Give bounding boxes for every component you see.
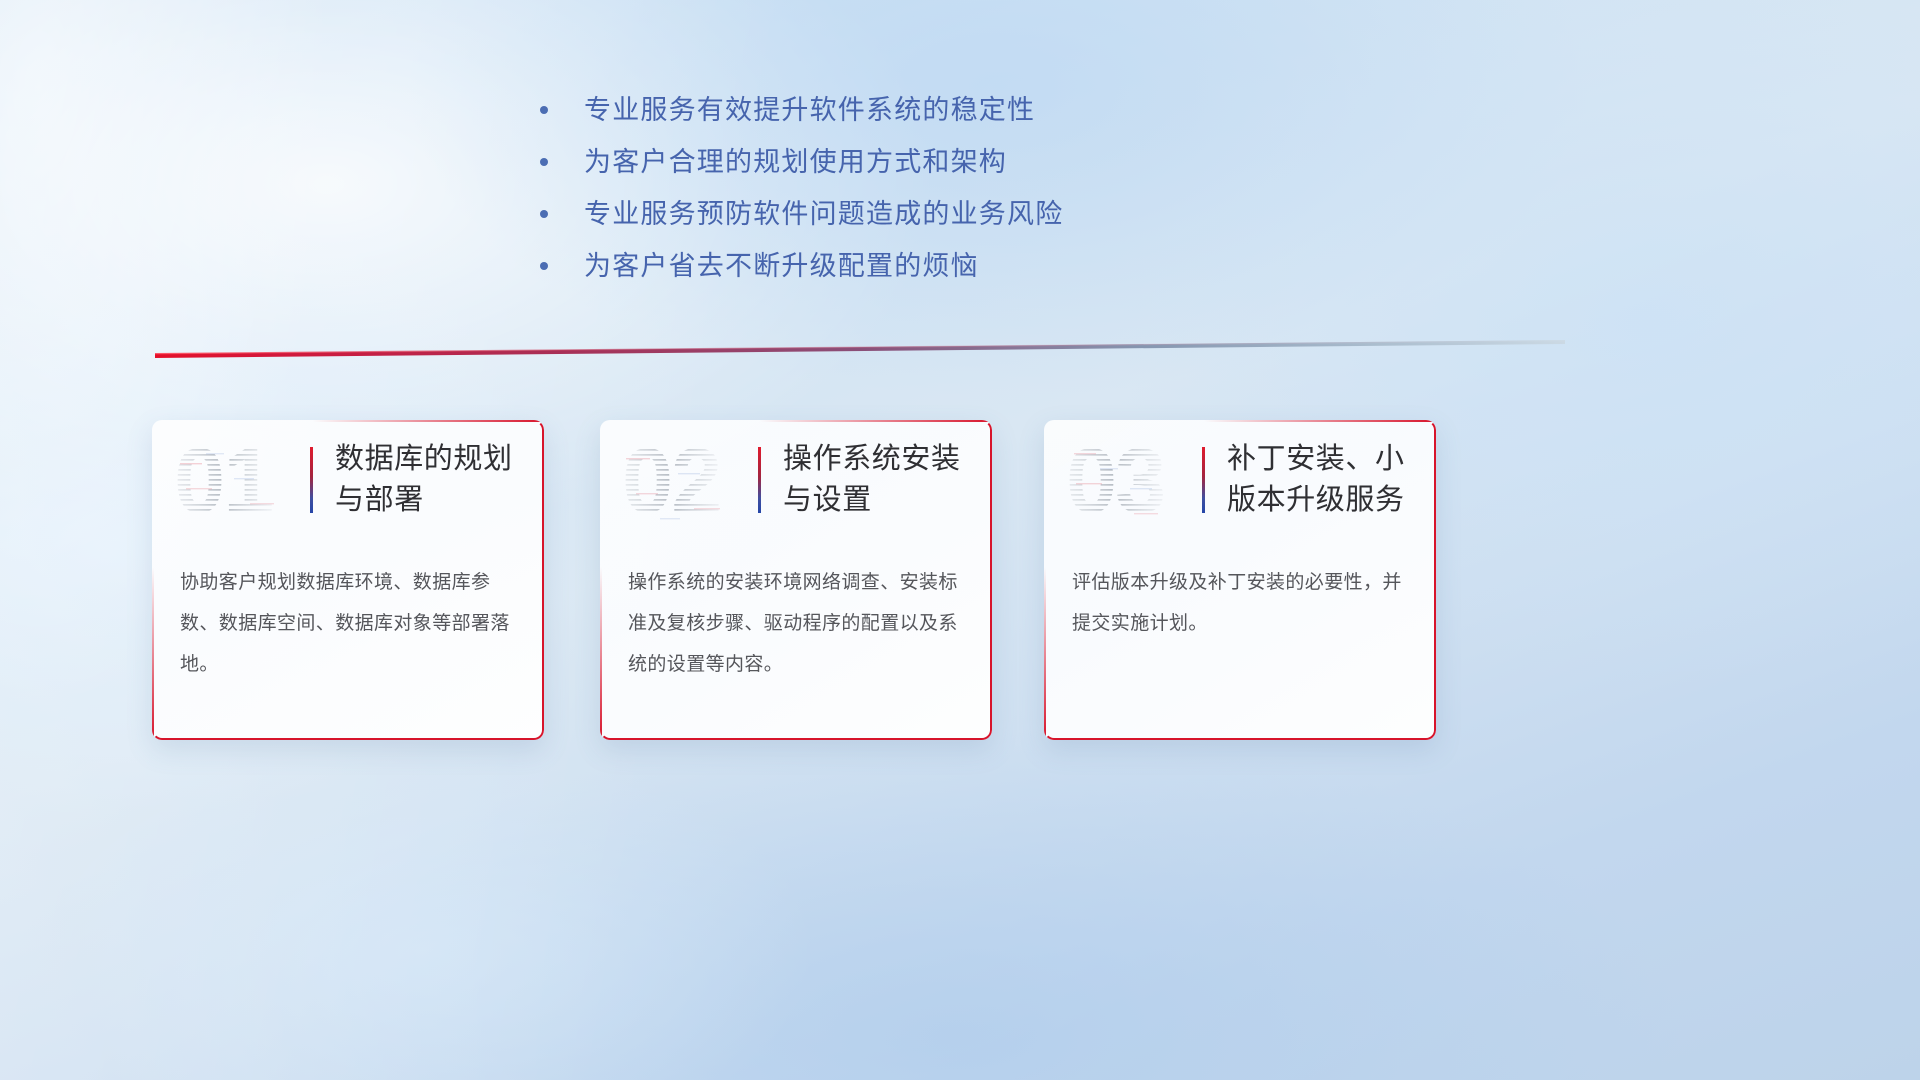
card-description: 协助客户规划数据库环境、数据库参数、数据库空间、数据库对象等部署落地。 [152,540,544,685]
svg-text:02: 02 [622,432,720,528]
section-divider [155,340,1565,362]
bullet-text: 专业服务预防软件问题造成的业务风险 [584,192,1063,236]
card-number-watermark: 01 [172,432,302,528]
bullet-dot-icon [540,262,548,270]
bullet-dot-icon [540,106,548,114]
service-card-03[interactable]: 03 补丁安装、小版本升级服务 评估版本升级及补丁安装的必要性，并提交实施计划。 [1044,420,1436,740]
card-number-watermark: 02 [620,432,750,528]
card-divider-bar [1202,447,1205,513]
bullet-dot-icon [540,210,548,218]
divider-line-shape [155,340,1565,362]
bullet-text: 为客户省去不断升级配置的烦恼 [584,244,979,288]
card-divider-bar [758,447,761,513]
list-item: 专业服务预防软件问题造成的业务风险 [540,192,1063,244]
card-number-watermark: 03 [1064,432,1194,528]
benefits-bullet-list: 专业服务有效提升软件系统的稳定性 为客户合理的规划使用方式和架构 专业服务预防软… [540,88,1063,296]
striped-numeral-03-icon: 03 [1064,432,1194,528]
card-header: 03 补丁安装、小版本升级服务 [1044,420,1436,540]
striped-numeral-01-icon: 01 [172,432,302,528]
list-item: 为客户合理的规划使用方式和架构 [540,140,1063,192]
card-header: 01 数据库的规划与部署 [152,420,544,540]
bullet-dot-icon [540,158,548,166]
card-title: 操作系统安装与设置 [783,439,974,521]
card-header: 02 操作系统安装与设置 [600,420,992,540]
bullet-text: 为客户合理的规划使用方式和架构 [584,140,1007,184]
list-item: 专业服务有效提升软件系统的稳定性 [540,88,1063,140]
service-card-02[interactable]: 02 操作系统安装与设置 操作系统的安装环境网络调查、安装标准及复核步骤、驱动程… [600,420,992,740]
striped-numeral-02-icon: 02 [620,432,750,528]
card-divider-bar [310,447,313,513]
card-title: 数据库的规划与部署 [335,439,526,521]
service-cards: 01 数据库的规划与部署 协助客户规划数据库环境、数据库参数、数据库空间、数据库… [0,420,1920,760]
service-card-01[interactable]: 01 数据库的规划与部署 协助客户规划数据库环境、数据库参数、数据库空间、数据库… [152,420,544,740]
card-description: 操作系统的安装环境网络调查、安装标准及复核步骤、驱动程序的配置以及系统的设置等内… [600,540,992,685]
bullet-text: 专业服务有效提升软件系统的稳定性 [584,88,1035,132]
card-title: 补丁安装、小版本升级服务 [1227,439,1418,521]
svg-text:01: 01 [174,432,272,528]
card-description: 评估版本升级及补丁安装的必要性，并提交实施计划。 [1044,540,1436,644]
list-item: 为客户省去不断升级配置的烦恼 [540,244,1063,296]
